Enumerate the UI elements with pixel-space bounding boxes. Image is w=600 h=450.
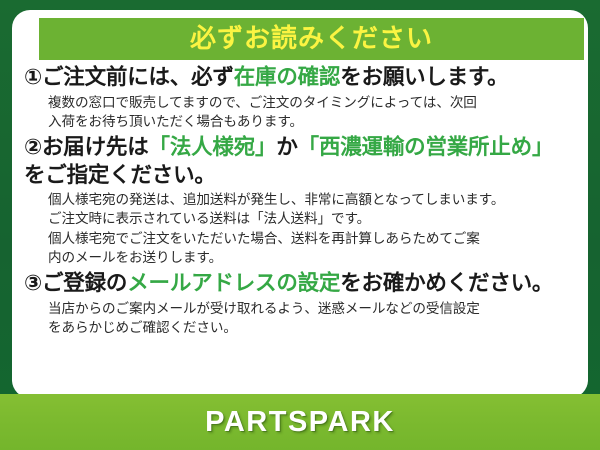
notice-item-2-heading-post: をご指定ください。: [24, 163, 216, 188]
notice-item-2-heading: ②お届け先は「法人様宛」か「西濃運輸の営業所止め」をご指定ください。: [24, 134, 574, 189]
notice-item-2-heading-pre: ②お届け先は: [24, 135, 149, 160]
notice-item-2-body-line: 個人様宅宛でご注文をいただいた場合、送料を再計算しあらためてご案: [48, 230, 574, 249]
notice-item-2-heading-highlight-2: 「西濃運輸の営業所止め」: [298, 135, 554, 160]
notice-item-3-body-line: 当店からのご案内メールが受け取れるよう、迷惑メールなどの受信設定: [48, 300, 574, 319]
notice-content: ①ご注文前には、必ず在庫の確認をお願いします。 複数の窓口で販売してますので、ご…: [12, 64, 588, 340]
notice-item-1-body-line: 複数の窓口で販売してますので、ご注文のタイミングによっては、次回: [48, 94, 574, 113]
notice-item-3-heading-pre: ③ご登録の: [24, 271, 127, 296]
brand-logo: PARTSPARK: [205, 406, 395, 439]
notice-item-1: ①ご注文前には、必ず在庫の確認をお願いします。 複数の窓口で販売してますので、ご…: [24, 64, 574, 132]
notice-item-3-heading-highlight: メールアドレスの設定: [127, 271, 340, 296]
notice-item-1-heading-highlight: 在庫の確認: [234, 65, 341, 90]
notice-item-2-body-line: ご注文時に表示されている送料は「法人送料」です。: [48, 210, 574, 229]
notice-item-2-heading-highlight: 「法人様宛」: [149, 135, 277, 160]
notice-item-2: ②お届け先は「法人様宛」か「西濃運輸の営業所止め」をご指定ください。 個人様宅宛…: [24, 134, 574, 268]
notice-item-3: ③ご登録のメールアドレスの設定をお確かめください。 当店からのご案内メールが受け…: [24, 270, 574, 338]
notice-item-1-body-line: 入荷をお待ち頂いただく場合もあります。: [48, 113, 574, 132]
notice-item-3-body-line: をあらかじめご確認ください。: [48, 319, 574, 338]
footer-bar: PARTSPARK: [0, 394, 600, 450]
notice-item-2-body-line: 内のメールをお送りします。: [48, 249, 574, 268]
page-title: 必ずお読みください: [190, 26, 433, 52]
notice-card: 必ずお読みください ①ご注文前には、必ず在庫の確認をお願いします。 複数の窓口で…: [0, 0, 600, 450]
notice-item-3-heading: ③ご登録のメールアドレスの設定をお確かめください。: [24, 270, 574, 298]
notice-item-2-body: 個人様宅宛の発送は、追加送料が発生し、非常に高額となってしまいます。 ご注文時に…: [24, 191, 574, 268]
notice-item-2-heading-mid: か: [276, 135, 297, 160]
notice-item-1-heading-post: をお願いします。: [340, 65, 508, 90]
notice-item-1-heading: ①ご注文前には、必ず在庫の確認をお願いします。: [24, 64, 574, 92]
notice-item-1-heading-pre: ①ご注文前には、必ず: [24, 65, 234, 90]
notice-item-1-body: 複数の窓口で販売してますので、ご注文のタイミングによっては、次回 入荷をお待ち頂…: [24, 94, 574, 133]
notice-item-3-heading-post: をお確かめください。: [340, 271, 553, 296]
white-panel: 必ずお読みください ①ご注文前には、必ず在庫の確認をお願いします。 複数の窓口で…: [12, 10, 588, 398]
notice-item-3-body: 当店からのご案内メールが受け取れるよう、迷惑メールなどの受信設定 をあらかじめご…: [24, 300, 574, 339]
notice-item-2-body-line: 個人様宅宛の発送は、追加送料が発生し、非常に高額となってしまいます。: [48, 191, 574, 210]
title-banner: 必ずお読みください: [39, 18, 584, 60]
